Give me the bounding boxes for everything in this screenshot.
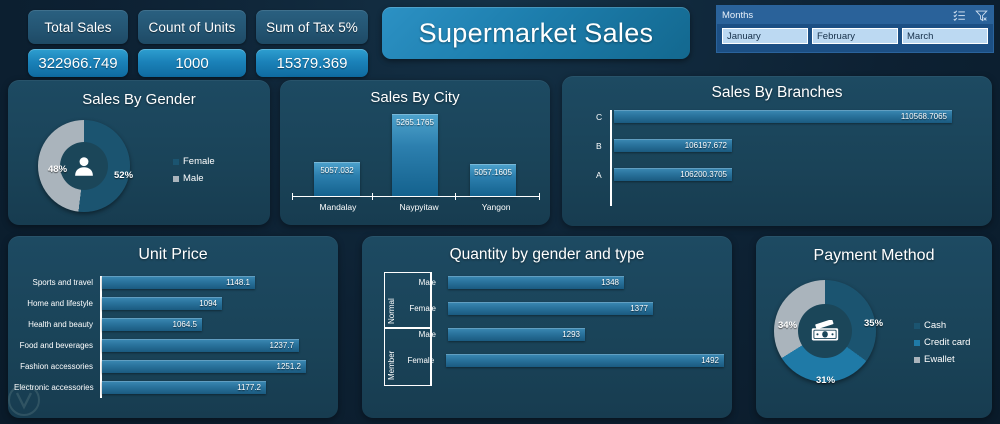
unit-label: Home and lifestyle [14, 299, 98, 308]
branches-row-c[interactable]: C 110568.7065 [596, 110, 976, 123]
legend-swatch-male [173, 176, 179, 182]
quantity-value: 1377 [630, 304, 653, 313]
branches-value-a: 106200.3705 [680, 170, 732, 179]
dashboard-page: Total Sales 322966.749 Count of Units 10… [0, 0, 1000, 424]
city-label-naypyitaw: Naypyitaw [399, 202, 438, 212]
panel-sales-by-branches: Sales By Branches C 110568.7065 B 106197… [562, 76, 992, 226]
quantity-value: 1492 [701, 356, 724, 365]
unit-value: 1148.1 [226, 278, 255, 287]
panel-sales-by-city: Sales By City 5057.032 5265.1765 5057.16… [280, 80, 550, 225]
unit-label: Health and beauty [14, 320, 98, 329]
payment-slice-label-ewallet: 34% [778, 320, 797, 331]
unit-value: 1237.7 [270, 341, 299, 350]
slicer-options: January February March [717, 24, 993, 48]
donut-center [60, 142, 108, 190]
kpi-label: Total Sales [28, 10, 128, 44]
legend-swatch-credit-card [914, 340, 920, 346]
unit-label: Sports and travel [14, 278, 98, 287]
quantity-row-normal-female[interactable]: Female 1377 [384, 302, 724, 315]
multi-select-icon[interactable] [953, 9, 966, 22]
kpi-value: 1000 [138, 49, 246, 77]
branches-bar-c[interactable]: 110568.7065 [614, 110, 952, 123]
panel-unit-price: Unit Price Sports and travel 1148.1 Home… [8, 236, 338, 418]
city-category-labels: Mandalay Naypyitaw Yangon [298, 202, 532, 212]
watermark-logo [2, 382, 46, 422]
quantity-bar[interactable]: 1348 [448, 276, 624, 289]
branches-label-b: B [596, 141, 610, 151]
branches-label-c: C [596, 112, 610, 122]
kpi-label: Count of Units [138, 10, 246, 44]
kpi-card-sum-of-tax[interactable]: Sum of Tax 5% 15379.369 [256, 10, 368, 77]
legend-item-credit-card[interactable]: Credit card [914, 337, 970, 348]
unit-label: Food and beverages [14, 341, 98, 350]
panel-title: Sales By Gender [8, 91, 270, 108]
gender-legend: Female Male [173, 156, 215, 190]
panel-title: Quantity by gender and type [362, 246, 732, 264]
city-axis-line [292, 196, 540, 197]
unit-row-food-and-beverages[interactable]: Food and beverages 1237.7 [14, 339, 330, 352]
legend-swatch-ewallet [914, 357, 920, 363]
kpi-label: Sum of Tax 5% [256, 10, 368, 44]
city-label-mandalay: Mandalay [320, 202, 357, 212]
branches-row-b[interactable]: B 106197.672 [596, 139, 976, 152]
group-label-normal: Normal [387, 280, 396, 324]
unit-bar[interactable]: 1177.2 [102, 381, 266, 394]
slicer-option-january[interactable]: January [722, 28, 808, 44]
legend-label-ewallet: Ewallet [924, 354, 955, 365]
unit-bar[interactable]: 1094 [102, 297, 222, 310]
donut-ring [774, 280, 876, 382]
slicer-header: Months [717, 6, 993, 24]
months-slicer[interactable]: Months [716, 5, 994, 53]
branches-row-a[interactable]: A 106200.3705 [596, 168, 976, 181]
slicer-option-march[interactable]: March [902, 28, 988, 44]
slicer-title: Months [722, 10, 953, 21]
quantity-row-member-female[interactable]: Female 1492 [384, 354, 724, 367]
unit-bar[interactable]: 1237.7 [102, 339, 299, 352]
unit-value: 1251.2 [277, 362, 306, 371]
unit-row-health-and-beauty[interactable]: Health and beauty 1064.5 [14, 318, 330, 331]
city-bar-mandalay[interactable]: 5057.032 [314, 162, 360, 196]
panel-sales-by-gender: Sales By Gender 48% 52% Female Male [8, 80, 270, 225]
kpi-value: 322966.749 [28, 49, 128, 77]
unit-row-electronic-accessories[interactable]: Electronic accessories 1177.2 [14, 381, 330, 394]
quantity-row-normal-male[interactable]: Male 1348 [384, 276, 724, 289]
clear-filter-icon[interactable] [975, 9, 988, 22]
legend-item-ewallet[interactable]: Ewallet [914, 354, 970, 365]
unit-row-home-and-lifestyle[interactable]: Home and lifestyle 1094 [14, 297, 330, 310]
page-title: Supermarket Sales [382, 7, 690, 59]
legend-label-male: Male [183, 173, 204, 184]
unit-value: 1177.2 [237, 383, 266, 392]
slicer-option-february[interactable]: February [812, 28, 898, 44]
branches-axis-line [610, 110, 612, 206]
quantity-axis-line [430, 272, 432, 386]
payment-donut-chart[interactable]: 35% 31% 34% [774, 280, 876, 382]
city-bar-value: 5057.032 [320, 166, 353, 175]
legend-item-cash[interactable]: Cash [914, 320, 970, 331]
city-label-yangon: Yangon [482, 202, 511, 212]
legend-item-female[interactable]: Female [173, 156, 215, 167]
city-bar-value: 5265.1765 [396, 118, 434, 127]
unit-value: 1094 [199, 299, 222, 308]
money-icon [809, 320, 841, 343]
unit-bar[interactable]: 1251.2 [102, 360, 306, 373]
donut-center [798, 304, 852, 358]
kpi-value: 15379.369 [256, 49, 368, 77]
branches-label-a: A [596, 170, 610, 180]
panel-quantity-by-gender-and-type: Quantity by gender and type Normal Membe… [362, 236, 732, 418]
branches-bar-b[interactable]: 106197.672 [614, 139, 732, 152]
quantity-row-member-male[interactable]: Male 1293 [384, 328, 724, 341]
quantity-bar[interactable]: 1492 [446, 354, 724, 367]
quantity-bar[interactable]: 1293 [448, 328, 585, 341]
branches-value-b: 106197.672 [685, 141, 732, 150]
legend-item-male[interactable]: Male [173, 173, 215, 184]
payment-slice-label-credit-card: 31% [816, 375, 835, 386]
branches-bar-a[interactable]: 106200.3705 [614, 168, 732, 181]
unit-row-fashion-accessories[interactable]: Fashion accessories 1251.2 [14, 360, 330, 373]
panel-payment-method: Payment Method 35% 31% [756, 236, 992, 418]
gender-slice-label-male: 48% [48, 164, 67, 175]
legend-label-credit-card: Credit card [924, 337, 970, 348]
quantity-bar-chart[interactable]: Normal Member Male 1348 Female 1377 Male… [384, 276, 724, 380]
quantity-value: 1293 [562, 330, 585, 339]
panel-title: Unit Price [8, 246, 338, 264]
gender-slice-label-female: 52% [114, 170, 133, 181]
panel-title: Sales By City [280, 89, 550, 106]
panel-title: Payment Method [756, 247, 992, 265]
payment-legend: Cash Credit card Ewallet [914, 320, 970, 371]
unit-price-bar-chart[interactable]: Sports and travel 1148.1 Home and lifest… [14, 276, 330, 402]
unit-row-sports-and-travel[interactable]: Sports and travel 1148.1 [14, 276, 330, 289]
unit-value: 1064.5 [173, 320, 202, 329]
kpi-card-total-sales[interactable]: Total Sales 322966.749 [28, 10, 128, 77]
kpi-card-count-of-units[interactable]: Count of Units 1000 [138, 10, 246, 77]
city-bar-naypyitaw[interactable]: 5265.1765 [392, 114, 438, 196]
unit-axis-line [100, 276, 102, 398]
legend-swatch-cash [914, 323, 920, 329]
gender-donut-chart[interactable]: 48% 52% [38, 120, 130, 212]
branches-bar-chart[interactable]: C 110568.7065 B 106197.672 A 106200.3705 [596, 110, 976, 197]
city-bar-yangon[interactable]: 5057.1605 [470, 164, 516, 196]
city-bar-chart[interactable]: 5057.032 5265.1765 5057.1605 [298, 114, 532, 196]
quantity-value: 1348 [601, 278, 624, 287]
person-icon [71, 153, 97, 179]
panel-title: Sales By Branches [562, 84, 992, 102]
payment-slice-label-cash: 35% [864, 318, 883, 329]
branches-value-c: 110568.7065 [901, 112, 952, 121]
unit-bar[interactable]: 1064.5 [102, 318, 202, 331]
unit-label: Fashion accessories [14, 362, 98, 371]
legend-label-cash: Cash [924, 320, 946, 331]
legend-swatch-female [173, 159, 179, 165]
unit-bar[interactable]: 1148.1 [102, 276, 255, 289]
group-label-member: Member [387, 336, 396, 380]
legend-label-female: Female [183, 156, 215, 167]
quantity-bar[interactable]: 1377 [448, 302, 653, 315]
city-bar-value: 5057.1605 [474, 168, 512, 177]
